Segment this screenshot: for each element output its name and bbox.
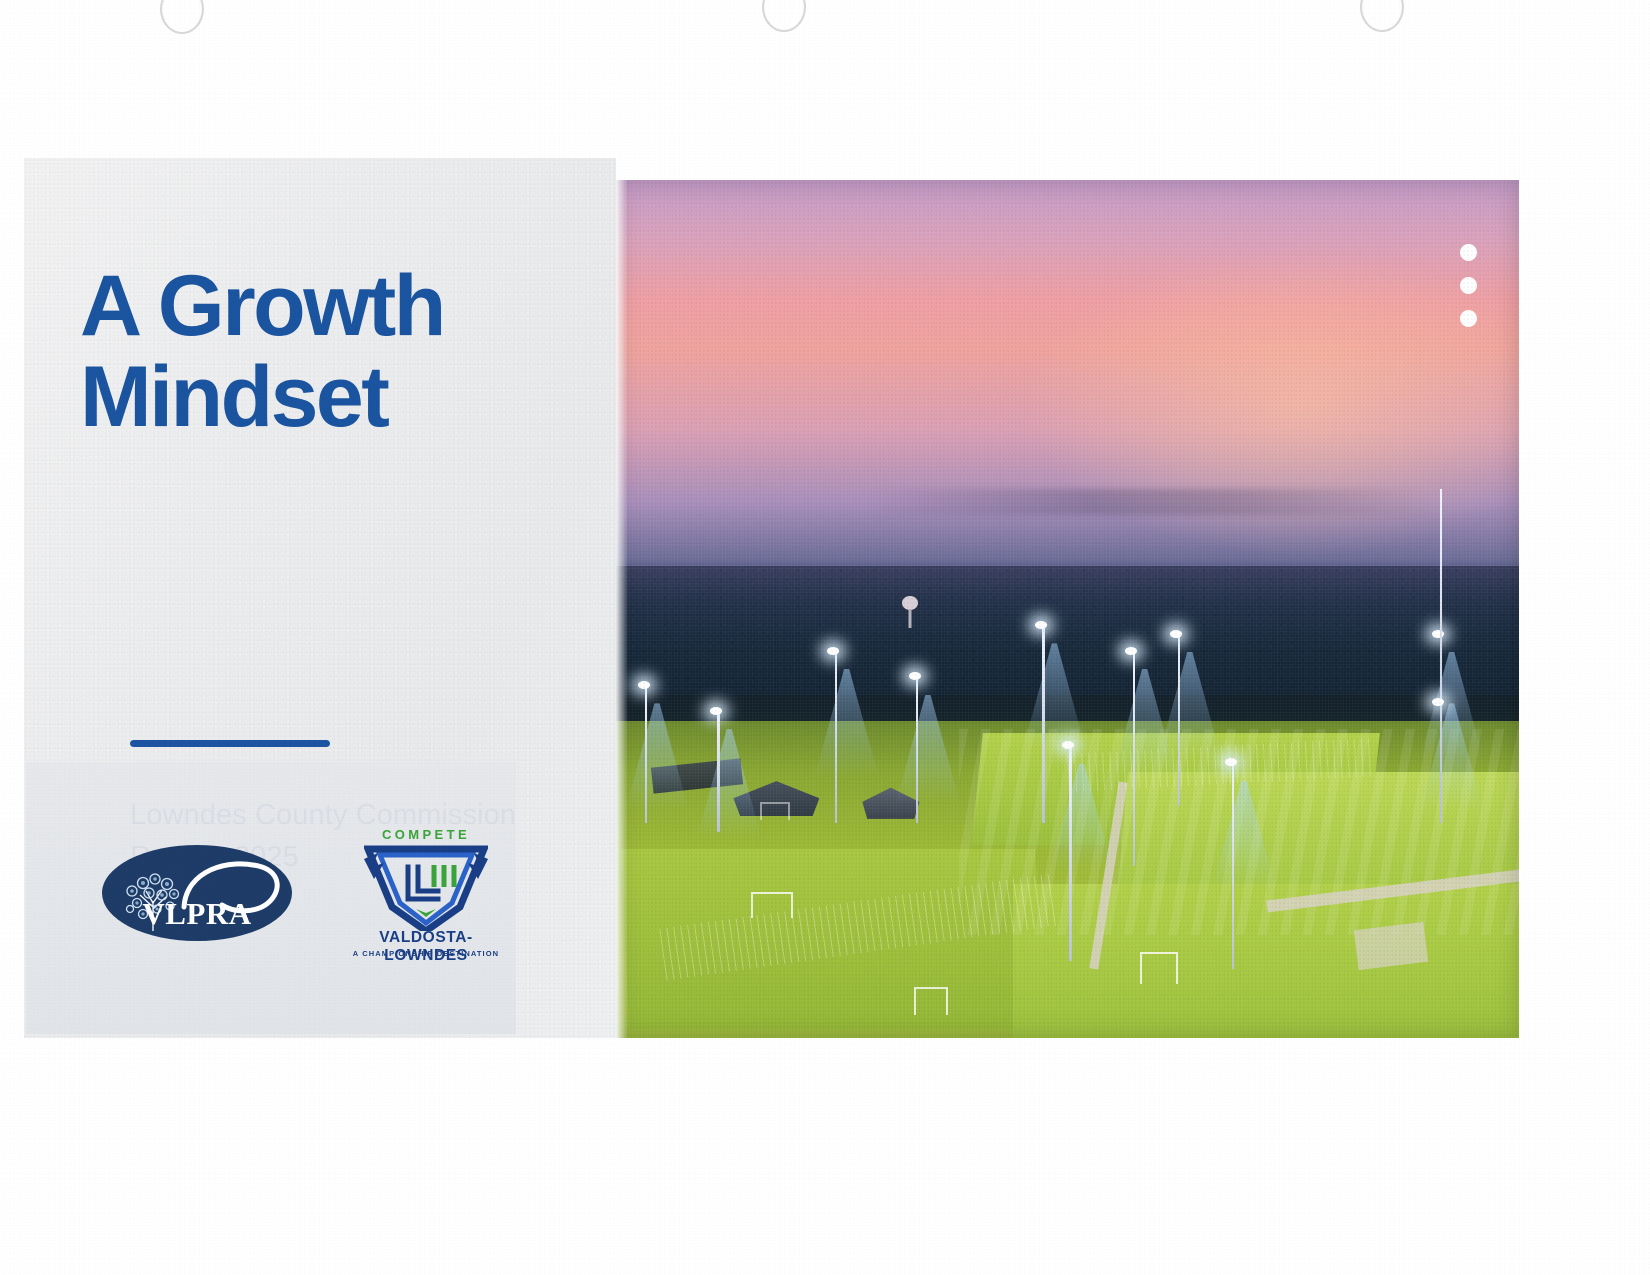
light-pole	[1069, 746, 1072, 961]
compete-arc-text: COMPETE	[350, 827, 502, 842]
hole-punch-mark	[762, 0, 806, 32]
soccer-goal	[751, 892, 793, 918]
soccer-goal	[914, 987, 948, 1015]
title-divider-rule	[130, 740, 330, 747]
hole-punch-mark	[160, 0, 204, 34]
slide-title: A Growth Mindset	[80, 264, 610, 440]
tall-light-pole	[1440, 489, 1443, 815]
vlpra-wordmark: VLPRA	[102, 896, 292, 932]
logo-row: VLPRA COMPETE	[102, 818, 532, 968]
decoration-dot	[1460, 310, 1477, 327]
decoration-dot	[1460, 277, 1477, 294]
light-lamp	[1225, 758, 1237, 766]
light-pole	[835, 652, 838, 824]
compete-tagline: A CHAMPIONSHIP DESTINATION	[350, 949, 502, 958]
light-lamp	[710, 707, 722, 715]
light-pole	[1042, 626, 1045, 823]
title-slide: A Growth Mindset Lowndes County Commissi…	[24, 158, 1519, 1038]
light-pole	[916, 678, 919, 824]
cover-photo	[616, 180, 1519, 1038]
hole-punch-mark	[1360, 0, 1404, 32]
water-tower-icon	[900, 594, 920, 628]
shield-icon	[364, 845, 488, 931]
scanned-page: A Growth Mindset Lowndes County Commissi…	[0, 0, 1650, 1275]
presenter-credit: Presented By : Suzan Garnett & Jessica C…	[102, 1176, 622, 1207]
light-lamp	[1432, 630, 1444, 638]
light-pole	[645, 686, 648, 823]
title-line-1: A Growth	[80, 264, 610, 349]
light-pole	[1133, 652, 1136, 867]
light-lamp	[827, 647, 839, 655]
light-lamp	[1125, 647, 1137, 655]
light-lamp	[1170, 630, 1182, 638]
soccer-goal	[1140, 952, 1178, 984]
light-pole	[1232, 763, 1235, 969]
decoration-dot	[1460, 244, 1477, 261]
light-pole	[1178, 635, 1181, 807]
title-line-2: Mindset	[80, 355, 610, 440]
soccer-goal	[760, 802, 790, 820]
vlpra-logo: VLPRA	[102, 845, 292, 941]
scan-seam	[616, 180, 628, 1038]
light-lamp	[1035, 621, 1047, 629]
slide-dots-decoration	[1460, 244, 1477, 327]
horizon-cloud-band	[869, 489, 1429, 515]
light-lamp	[638, 681, 650, 689]
light-pole	[717, 712, 720, 832]
compete-valdosta-lowndes-logo: COMPETE VA	[350, 825, 502, 961]
compete-wordmark: VALDOSTA-LOWNDES	[350, 929, 502, 965]
